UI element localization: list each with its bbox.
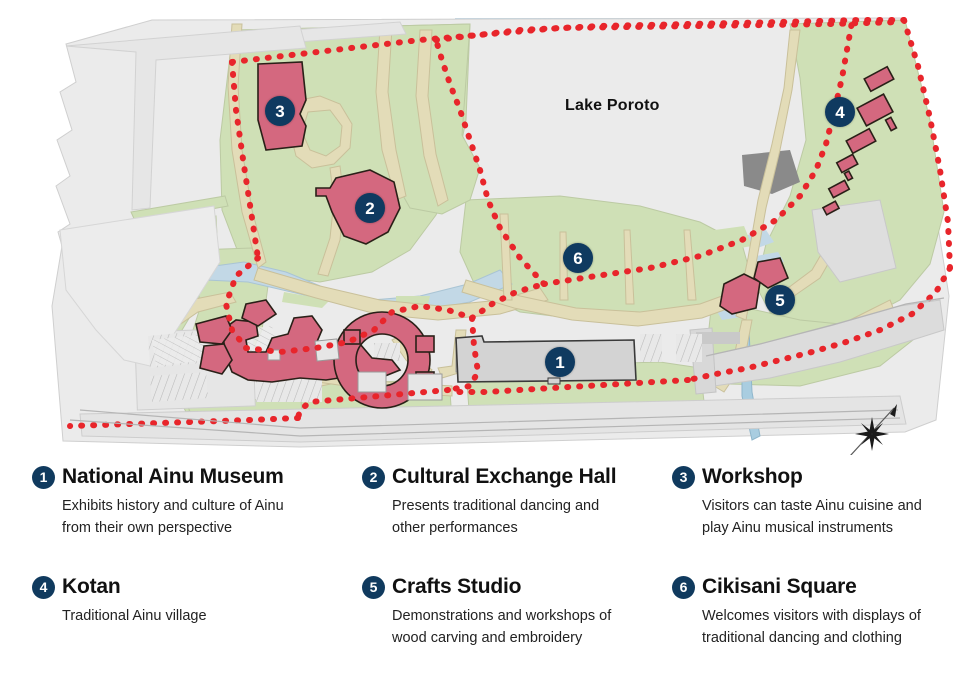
map-marker-3[interactable]: 3 — [265, 96, 295, 126]
legend-desc-6-line1: Welcomes visitors with displays of — [702, 605, 960, 627]
legend-badge-2: 2 — [362, 466, 385, 489]
legend-desc-5-line2: wood carving and embroidery — [392, 627, 640, 649]
legend-title-1: National Ainu Museum — [62, 465, 284, 489]
legend-item-crafts-studio[interactable]: 5 Crafts Studio Demonstrations and works… — [330, 575, 640, 685]
legend-desc-4: Traditional Ainu village — [62, 605, 330, 627]
legend-head: 1 National Ainu Museum — [32, 465, 330, 489]
legend-desc-6-line2: traditional dancing and clothing — [702, 627, 960, 649]
legend-title-5: Crafts Studio — [392, 575, 521, 599]
lake-label: Lake Poroto — [565, 97, 660, 115]
map-marker-5[interactable]: 5 — [765, 285, 795, 315]
legend-badge-4: 4 — [32, 576, 55, 599]
map-marker-2[interactable]: 2 — [355, 193, 385, 223]
map-legend: 1 National Ainu Museum Exhibits history … — [0, 455, 960, 687]
legend-head: 4 Kotan — [32, 575, 330, 599]
legend-desc-1-line2: from their own perspective — [62, 517, 330, 539]
legend-item-national-ainu-museum[interactable]: 1 National Ainu Museum Exhibits history … — [0, 465, 330, 575]
legend-desc-5: Demonstrations and workshops of wood car… — [392, 605, 640, 650]
legend-badge-5: 5 — [362, 576, 385, 599]
legend-desc-3: Visitors can taste Ainu cuisine and play… — [702, 495, 960, 540]
legend-badge-6: 6 — [672, 576, 695, 599]
legend-desc-1: Exhibits history and culture of Ainu fro… — [62, 495, 330, 540]
map-page: Lake Poroto 1 2 3 4 5 6 1 National Ainu … — [0, 0, 960, 687]
legend-item-cikisani-square[interactable]: 6 Cikisani Square Welcomes visitors with… — [640, 575, 960, 685]
legend-badge-3: 3 — [672, 466, 695, 489]
legend-head: 2 Cultural Exchange Hall — [362, 465, 640, 489]
legend-head: 3 Workshop — [672, 465, 960, 489]
map-marker-4[interactable]: 4 — [825, 97, 855, 127]
legend-desc-3-line1: Visitors can taste Ainu cuisine and — [702, 495, 960, 517]
legend-desc-2-line2: other performances — [392, 517, 640, 539]
legend-title-2: Cultural Exchange Hall — [392, 465, 616, 489]
map-graphic — [0, 0, 960, 455]
legend-item-workshop[interactable]: 3 Workshop Visitors can taste Ainu cuisi… — [640, 465, 960, 575]
legend-badge-1: 1 — [32, 466, 55, 489]
legend-title-6: Cikisani Square — [702, 575, 857, 599]
legend-desc-2: Presents traditional dancing and other p… — [392, 495, 640, 540]
legend-item-cultural-exchange-hall[interactable]: 2 Cultural Exchange Hall Presents tradit… — [330, 465, 640, 575]
legend-desc-4-line1: Traditional Ainu village — [62, 605, 330, 627]
legend-item-kotan[interactable]: 4 Kotan Traditional Ainu village — [0, 575, 330, 685]
legend-title-3: Workshop — [702, 465, 803, 489]
park-map[interactable]: Lake Poroto 1 2 3 4 5 6 — [0, 0, 960, 455]
legend-desc-2-line1: Presents traditional dancing and — [392, 495, 640, 517]
legend-desc-1-line1: Exhibits history and culture of Ainu — [62, 495, 330, 517]
legend-title-4: Kotan — [62, 575, 121, 599]
legend-desc-3-line2: play Ainu musical instruments — [702, 517, 960, 539]
map-marker-1[interactable]: 1 — [545, 347, 575, 377]
legend-head: 6 Cikisani Square — [672, 575, 960, 599]
legend-head: 5 Crafts Studio — [362, 575, 640, 599]
legend-desc-6: Welcomes visitors with displays of tradi… — [702, 605, 960, 650]
map-marker-6[interactable]: 6 — [563, 243, 593, 273]
legend-desc-5-line1: Demonstrations and workshops of — [392, 605, 640, 627]
